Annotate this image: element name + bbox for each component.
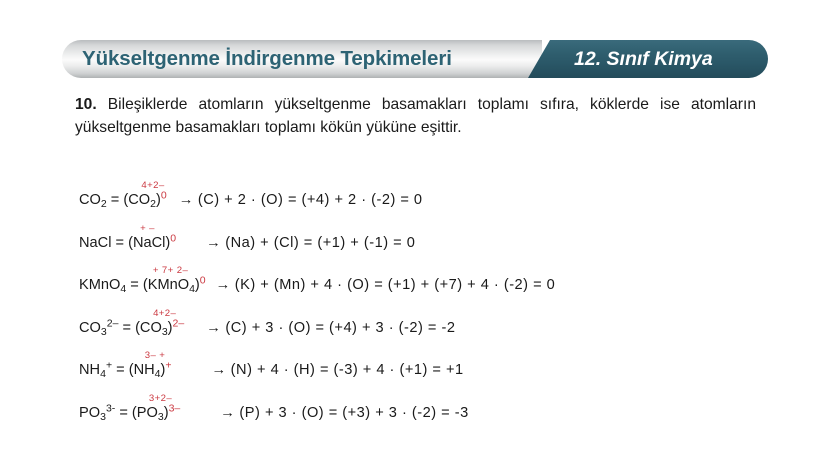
header-banner: Yükseltgenme İndirgenme Tepkimeleri 12. … [62,40,768,78]
intro-text: Bileşiklerde atomların yükseltgenme basa… [75,96,756,136]
formula-lhs: NaCl [79,235,111,251]
oxidation-number-label: + 7+ 2– [153,265,188,276]
yields-arrow-icon: → [212,362,227,378]
paren-charge: + [165,360,171,372]
oxidation-number-label: 3+2– [149,393,172,404]
formula-lhs: CO32– [79,320,118,336]
intro-number: 10. [75,96,97,113]
formula-lhs: CO2 [79,192,107,208]
formula-lhs: KMnO4 [79,277,126,293]
equals-sign: = [107,192,124,208]
equals-sign: = [115,405,132,421]
parenthesised-species: + –(NaCl)0 [128,235,176,251]
equation-nh4: NH4+ = 3– +(NH4)+→ (N) + 4 · (H) = (-3) … [79,362,464,378]
yields-arrow-icon: → [206,320,221,336]
paren-subscript: 2 [150,198,156,210]
equation-row: PO33- = 3+2–(PO3)3–→ (P) + 3 · (O) = (+3… [79,393,779,436]
oxidation-number-label: 4+2– [153,308,176,319]
intro-paragraph: 10. Bileşiklerde atomların yükseltgenme … [75,93,756,139]
page-title: Yükseltgenme İndirgenme Tepkimeleri [82,40,452,78]
equals-sign: = [112,362,129,378]
equation-row: NH4+ = 3– +(NH4)+→ (N) + 4 · (H) = (-3) … [79,350,779,393]
equation-co2: CO2 = 4+2–(CO2)0→ (C) + 2 · (O) = (+4) +… [79,192,423,208]
paren-charge: 0 [161,190,167,202]
equation-row: NaCl = + –(NaCl)0→ (Na) + (Cl) = (+1) + … [79,223,779,266]
paren-charge: 0 [200,275,206,287]
equation-expansion: (N) + 4 · (H) = (-3) + 4 · (+1) = +1 [226,362,463,378]
equals-sign: = [111,235,128,251]
equation-list: CO2 = 4+2–(CO2)0→ (C) + 2 · (O) = (+4) +… [79,180,779,435]
parenthesised-species: 4+2–(CO3)2– [135,320,184,336]
parenthesised-species: 3+2–(PO3)3– [132,405,180,421]
banner-subtitle: 12. Sınıf Kimya [574,40,713,78]
yields-arrow-icon: → [179,192,194,208]
oxidation-number-label: 3– + [145,350,166,361]
parenthesised-species: 4+2–(CO2)0 [123,192,166,208]
parenthesised-species: 3– +(NH4)+ [129,362,172,378]
paren-subscript: 3 [158,410,164,422]
equation-po3: PO33- = 3+2–(PO3)3–→ (P) + 3 · (O) = (+3… [79,405,469,421]
paren-charge: 0 [170,232,176,244]
paren-charge: 3– [169,402,181,414]
equals-sign: = [126,277,143,293]
equals-sign: = [118,320,135,336]
equation-co3: CO32– = 4+2–(CO3)2–→ (C) + 3 · (O) = (+4… [79,320,455,336]
paren-subscript: 3 [162,325,168,337]
equation-expansion: (P) + 3 · (O) = (+3) + 3 · (-2) = -3 [235,405,469,421]
equation-expansion: (C) + 3 · (O) = (+4) + 3 · (-2) = -2 [221,320,456,336]
oxidation-number-label: 4+2– [141,180,164,191]
parenthesised-species: + 7+ 2–(KMnO4)0 [143,277,206,293]
yields-arrow-icon: → [206,235,221,251]
equation-row: KMnO4 = + 7+ 2–(KMnO4)0→ (K) + (Mn) + 4 … [79,265,779,308]
equation-row: CO2 = 4+2–(CO2)0→ (C) + 2 · (O) = (+4) +… [79,180,779,223]
paren-charge: 2– [173,317,185,329]
paren-subscript: 4 [155,368,161,380]
paren-subscript: 4 [189,283,195,295]
formula-charge: 2– [107,317,119,329]
yields-arrow-icon: → [220,405,235,421]
equation-expansion: (Na) + (Cl) = (+1) + (-1) = 0 [221,235,416,251]
equation-kmno4: KMnO4 = + 7+ 2–(KMnO4)0→ (K) + (Mn) + 4 … [79,277,555,293]
formula-lhs: PO33- [79,405,115,421]
yields-arrow-icon: → [216,277,231,293]
equation-expansion: (K) + (Mn) + 4 · (O) = (+1) + (+7) + 4 ·… [230,277,555,293]
equation-expansion: (C) + 2 · (O) = (+4) + 2 · (-2) = 0 [193,192,422,208]
oxidation-number-label: + – [140,223,155,234]
formula-charge: 3- [106,402,115,414]
equation-row: CO32– = 4+2–(CO3)2–→ (C) + 3 · (O) = (+4… [79,308,779,351]
equation-nacl: NaCl = + –(NaCl)0→ (Na) + (Cl) = (+1) + … [79,235,415,251]
formula-lhs: NH4+ [79,362,112,378]
